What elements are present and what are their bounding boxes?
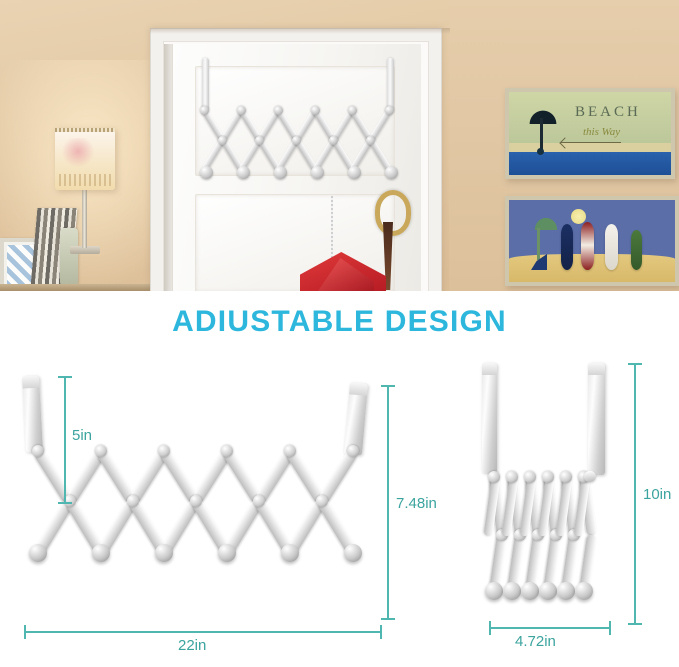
hook-knob [521,582,539,600]
hook-knob [344,544,362,562]
dim-label-5in: 5in [72,427,92,444]
dim-line-748in [387,385,389,620]
hook-knob [155,544,173,562]
dim-label-748in: 7.48in [396,495,437,512]
hook-knob [281,544,299,562]
palm-tree-icon [527,108,559,124]
dim-line-5in [64,376,66,504]
lattice-pivot [292,136,301,145]
hook-knob [218,544,236,562]
dim-line-472in [489,627,611,629]
lattice-pivot [385,106,394,115]
over-door-hanger-left [482,363,497,473]
lattice-pivot [488,471,500,483]
lattice-pivot [32,445,44,457]
expanded-rack-diagram [0,291,420,667]
left-arrow-icon [561,142,621,143]
lattice-pivot [200,106,209,115]
sign-script: this Way [583,126,620,138]
lattice-pivot [347,445,359,457]
hook-knob [539,582,557,600]
hook-knob [503,582,521,600]
hook-knob [29,544,47,562]
lifestyle-photo: BEACH this Way [0,0,679,291]
dim-label-10in: 10in [643,486,671,503]
lamp-shade-trim [55,128,115,132]
surfboard-artwork [505,196,679,286]
dim-label-22in: 22in [178,637,206,654]
over-door-hanger [202,58,209,112]
hook-knob [575,582,593,600]
shelf-surface [0,284,150,291]
lattice-pivot [95,445,107,457]
sun-icon [571,209,586,224]
over-door-hanger-left [22,376,43,453]
dim-cap-left-22in [24,625,26,639]
lattice-pivot [274,106,283,115]
palm-trunk [537,228,540,260]
hook-knob [237,166,250,179]
dim-cap-left-472in [489,621,491,635]
lamp-neck [82,190,87,248]
dim-cap-right-22in [380,625,382,639]
lattice-pivot [542,471,554,483]
sign-sand [509,143,671,151]
hook-knob [311,166,324,179]
dim-cap-bottom-5in [58,502,72,504]
hook-knob [92,544,110,562]
lattice-pivot [329,136,338,145]
palm-coconut [537,148,544,155]
dim-cap-bottom-748in [381,618,395,620]
lattice-pivot [221,445,233,457]
mounted-hook-rack [196,58,408,198]
hook-knob [385,166,398,179]
chain-strap [331,196,333,262]
lattice-pivot [506,471,518,483]
lamp-shade [55,128,115,190]
gold-ring [375,190,411,236]
palm-trunk [540,118,543,152]
hook-knob [485,582,503,600]
collapsed-rack-diagram [470,291,640,667]
dim-cap-top-10in [628,363,642,365]
hook-knob [200,166,213,179]
surfboard-icon [631,230,642,270]
dim-line-10in [634,363,636,625]
hook-knob [274,166,287,179]
lattice-pivot [348,106,357,115]
lattice-pivot [158,445,170,457]
hook-knob [557,582,575,600]
sign-sea [509,152,671,175]
dim-cap-top-748in [381,385,395,387]
dim-line-22in [24,631,382,633]
cordless-phone [60,228,78,286]
lattice-pivot [218,136,227,145]
product-infographic: BEACH this Way ADIUSTABLE DESIGN 5 [0,0,679,667]
lattice-pivot [560,471,572,483]
dim-label-472in: 4.72in [515,633,556,650]
lattice-pivot [253,495,265,507]
lattice-pivot [190,495,202,507]
lattice-pivot [127,495,139,507]
sign-heading: BEACH [575,104,641,121]
lattice-pivot [366,136,375,145]
lattice-pivot [237,106,246,115]
over-door-hanger-right [344,382,368,455]
lattice-pivot [316,495,328,507]
lattice-pivot [524,471,536,483]
dimension-diagram-area: ADIUSTABLE DESIGN 5in 7.48in 22in 10in 4… [0,291,679,667]
lattice-pivot [255,136,264,145]
surfboard-icon [605,224,618,270]
door-header-shadow [150,28,450,34]
lattice-pivot [311,106,320,115]
lattice-pivot [284,445,296,457]
surfboard-icon [581,222,594,270]
dim-cap-bottom-10in [628,623,642,625]
surfboard-icon [561,224,573,270]
over-door-hanger [387,58,394,112]
over-door-hanger-right [588,363,605,475]
dim-cap-top-5in [58,376,72,378]
beach-sign-artwork: BEACH this Way [505,88,675,179]
dim-cap-right-472in [609,621,611,635]
hook-knob [348,166,361,179]
